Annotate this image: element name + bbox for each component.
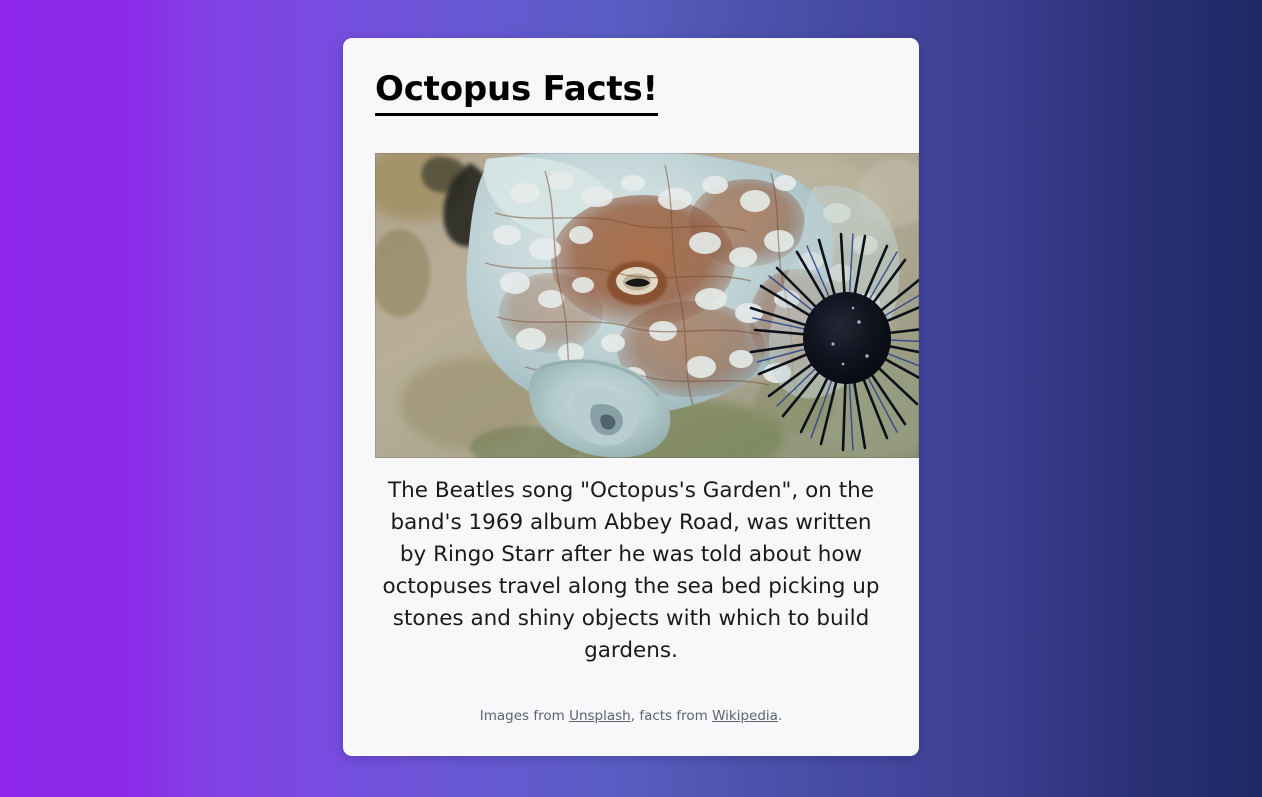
footer-suffix: .	[778, 708, 782, 724]
page-background: Octopus Facts!	[0, 0, 1262, 797]
wikipedia-link[interactable]: Wikipedia	[712, 708, 778, 724]
fact-card: Octopus Facts!	[343, 38, 919, 756]
attribution-footer: Images from Unsplash, facts from Wikiped…	[375, 707, 887, 726]
page-title: Octopus Facts!	[375, 70, 658, 116]
octopus-photo-illustration	[375, 153, 919, 458]
unsplash-link[interactable]: Unsplash	[569, 708, 631, 724]
octopus-photo	[375, 153, 919, 458]
title-row: Octopus Facts!	[375, 64, 887, 116]
footer-middle: , facts from	[631, 708, 712, 724]
footer-prefix: Images from	[480, 708, 569, 724]
fact-paragraph: The Beatles song "Octopus's Garden", on …	[375, 475, 887, 667]
